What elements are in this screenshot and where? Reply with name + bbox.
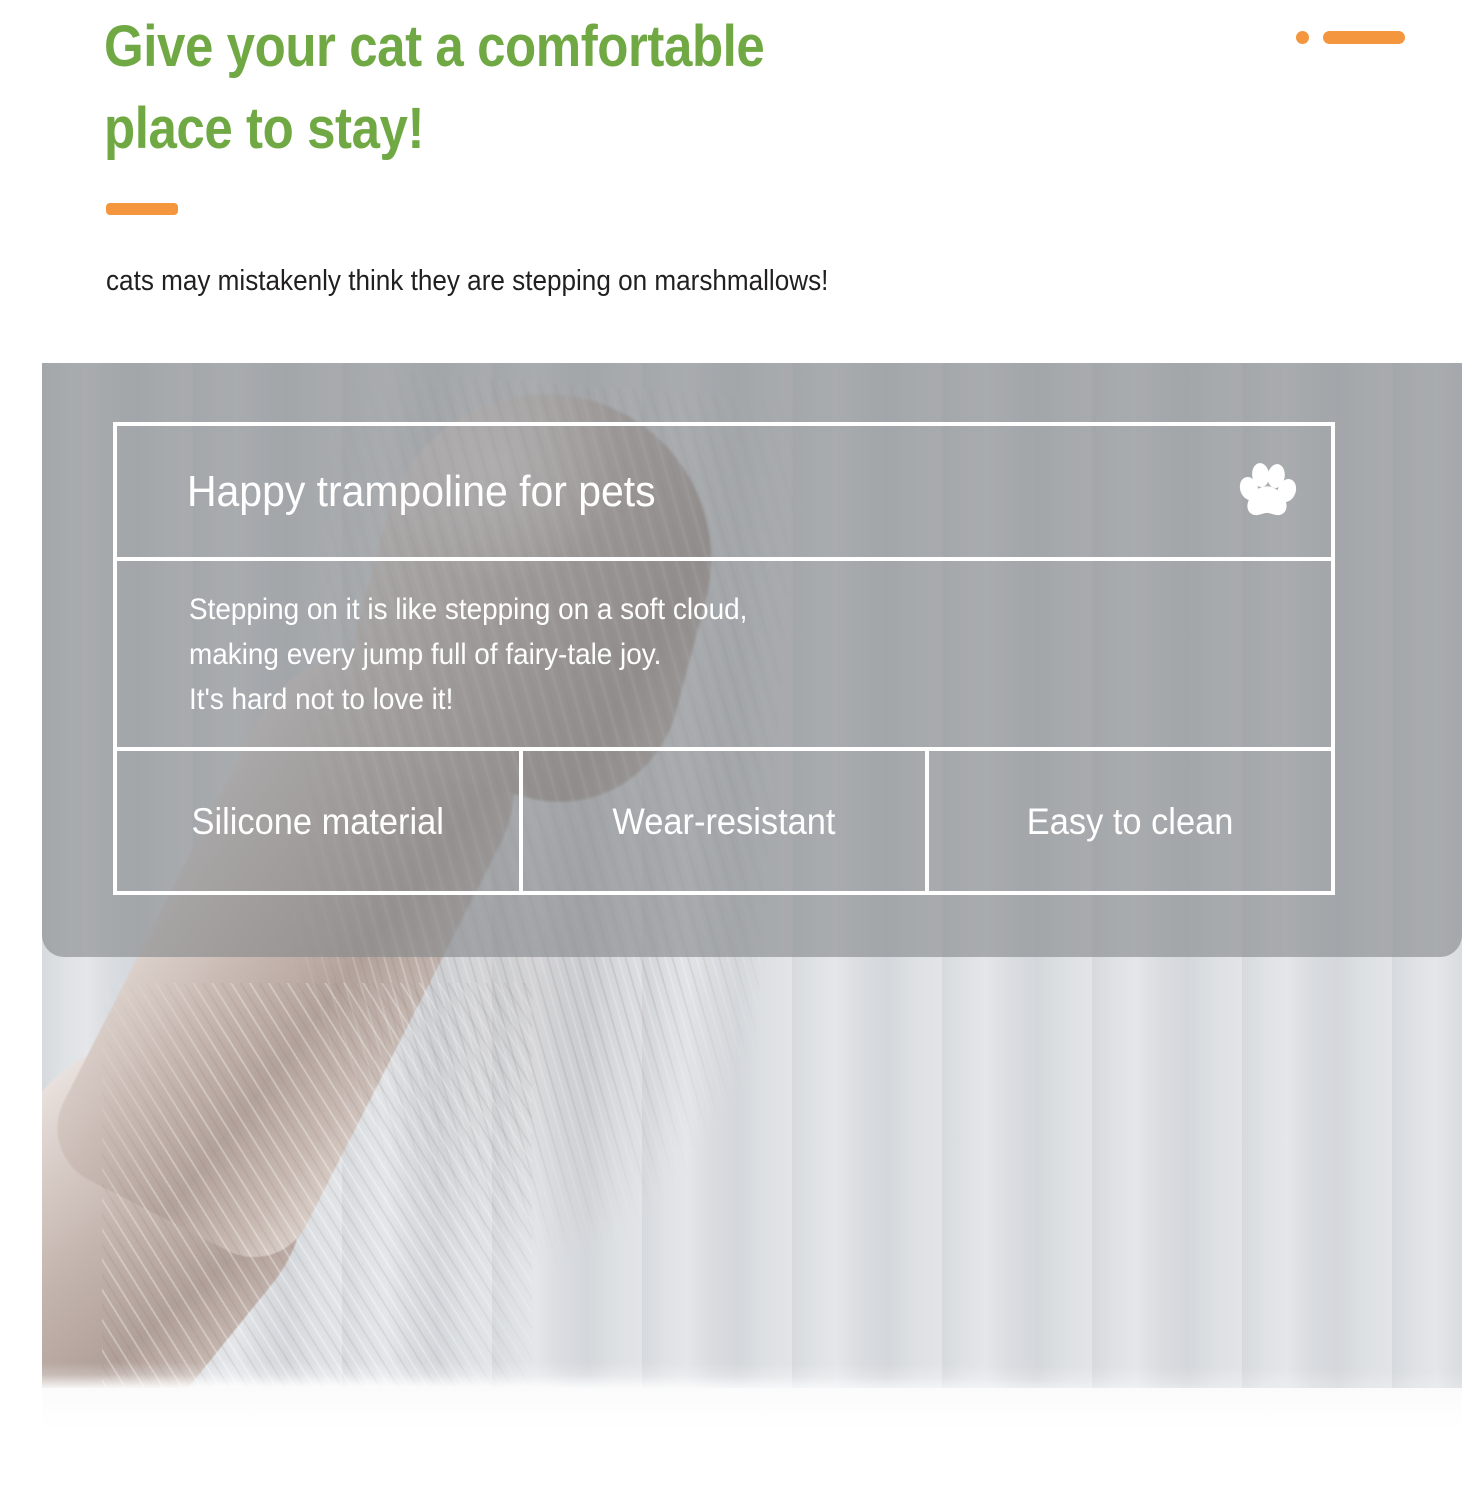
card-body: Stepping on it is like stepping on a sof…: [117, 561, 1331, 751]
info-overlay-panel: Happy trampoline for pets Stepping on it…: [42, 363, 1462, 957]
corner-decoration: [1296, 30, 1405, 44]
bar-icon: [1323, 31, 1405, 44]
heading-rule-icon: [106, 203, 178, 215]
feature-cell-wear: Wear-resistant: [519, 751, 925, 891]
card-description: Stepping on it is like stepping on a sof…: [189, 587, 1251, 722]
feature-label: Silicone material: [192, 803, 444, 840]
feature-label: Easy to clean: [1027, 803, 1234, 840]
feature-label: Wear-resistant: [612, 803, 835, 840]
white-floor-surface: [42, 1388, 1462, 1500]
paw-print-icon: [1235, 462, 1297, 522]
feature-cell-clean: Easy to clean: [925, 751, 1331, 891]
card-feature-row: Silicone material Wear-resistant Easy to…: [117, 751, 1331, 891]
page-headline: Give your cat a comfortable place to sta…: [104, 6, 1072, 170]
product-photo: Happy trampoline for pets Stepping on it…: [42, 363, 1462, 1500]
feature-card: Happy trampoline for pets Stepping on it…: [113, 422, 1335, 895]
card-title: Happy trampoline for pets: [187, 470, 656, 514]
header-section: Give your cat a comfortable place to sta…: [0, 0, 1483, 363]
page-subtitle: cats may mistakenly think they are stepp…: [106, 262, 1186, 300]
card-header: Happy trampoline for pets: [117, 426, 1331, 561]
dot-icon: [1296, 31, 1309, 44]
feature-cell-material: Silicone material: [117, 751, 519, 891]
